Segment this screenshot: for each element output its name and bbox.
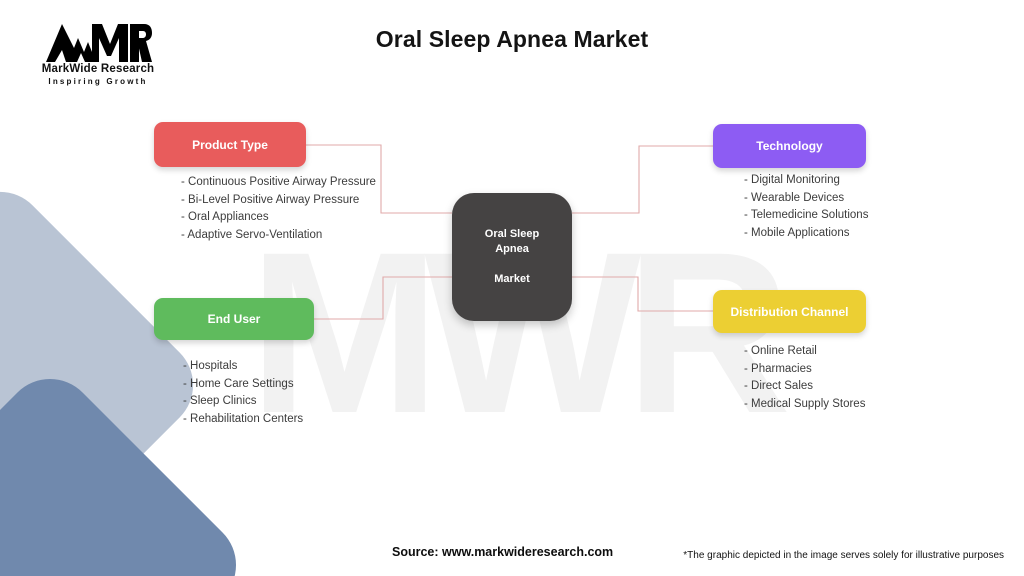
branch-label: Product Type: [192, 138, 268, 152]
source-text: Source: www.markwideresearch.com: [392, 545, 613, 559]
list-item: - Medical Supply Stores: [744, 396, 865, 414]
list-item: - Wearable Devices: [744, 190, 868, 208]
list-item: - Home Care Settings: [183, 376, 303, 394]
branch-items-product-type: - Continuous Positive Airway Pressure - …: [181, 174, 376, 244]
branch-node-technology[interactable]: Technology: [713, 124, 866, 168]
center-label-line2: Market: [462, 272, 562, 287]
list-item: - Telemedicine Solutions: [744, 207, 868, 225]
disclaimer-text: *The graphic depicted in the image serve…: [683, 550, 1004, 561]
list-item: - Rehabilitation Centers: [183, 411, 303, 429]
branch-items-end-user: - Hospitals - Home Care Settings - Sleep…: [183, 358, 303, 428]
branch-node-end-user[interactable]: End User: [154, 298, 314, 340]
list-item: - Direct Sales: [744, 378, 865, 396]
list-item: - Mobile Applications: [744, 225, 868, 243]
center-node: Oral Sleep Apnea Market: [452, 193, 572, 321]
branch-items-distribution-channel: - Online Retail - Pharmacies - Direct Sa…: [744, 343, 865, 413]
list-item: - Bi-Level Positive Airway Pressure: [181, 192, 376, 210]
list-item: - Hospitals: [183, 358, 303, 376]
branch-node-distribution-channel[interactable]: Distribution Channel: [713, 290, 866, 333]
branch-items-technology: - Digital Monitoring - Wearable Devices …: [744, 172, 868, 242]
branch-label: Distribution Channel: [731, 305, 849, 319]
branch-node-product-type[interactable]: Product Type: [154, 122, 306, 167]
list-item: - Oral Appliances: [181, 209, 376, 227]
list-item: - Digital Monitoring: [744, 172, 868, 190]
list-item: - Sleep Clinics: [183, 393, 303, 411]
list-item: - Online Retail: [744, 343, 865, 361]
infographic-canvas: MWR MarkWide Research Inspiring Growth O…: [0, 0, 1024, 576]
branch-label: Technology: [756, 139, 822, 153]
list-item: - Adaptive Servo-Ventilation: [181, 227, 376, 245]
list-item: - Continuous Positive Airway Pressure: [181, 174, 376, 192]
branch-label: End User: [208, 312, 261, 326]
center-label-line1: Oral Sleep Apnea: [462, 227, 562, 257]
list-item: - Pharmacies: [744, 361, 865, 379]
